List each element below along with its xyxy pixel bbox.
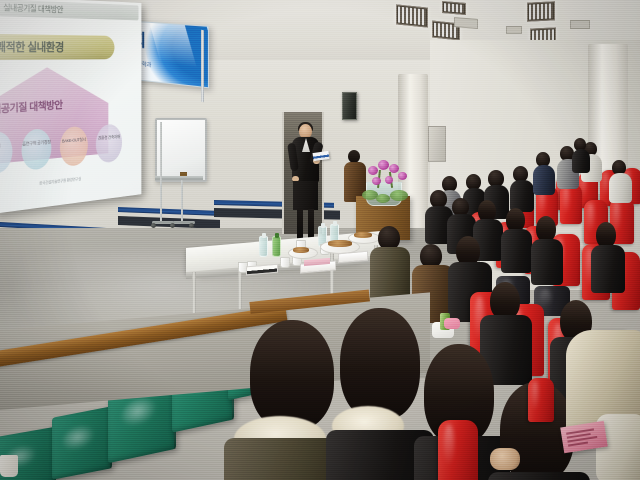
ceiling-vent <box>506 26 522 34</box>
food-item <box>328 240 352 247</box>
greenery <box>376 194 390 203</box>
whiteboard-caster <box>189 223 194 228</box>
slide-oval-row: 환기 흡연구역 공기청정 BAKE-OUT실시 친환경 건축자재 <box>0 123 133 177</box>
orchid-bloom <box>398 172 407 180</box>
slide-oval: BAKE-OUT실시 <box>60 126 88 167</box>
presenter-leg <box>297 209 303 241</box>
paper-cup <box>0 455 18 477</box>
attendee-torso <box>501 229 532 273</box>
attendee-torso <box>572 149 590 173</box>
slide-oval-label: 친환경 건축자재 <box>96 134 122 141</box>
slide-oval: 환기 <box>0 131 12 175</box>
projection-screen: 실내공기질 대책방안 쾌적한 실내환경 실내공기질 대책방안 환기 흡연구역 공… <box>0 0 141 214</box>
orchid-bloom <box>385 176 393 184</box>
slide-credit: 한국건설기술연구원 환경연구실 <box>39 176 81 186</box>
slide-oval: 친환경 건축자재 <box>96 124 122 164</box>
ceiling-light-icon <box>527 1 555 21</box>
auditorium-seat <box>438 420 478 480</box>
attendee-torso <box>533 165 555 195</box>
whiteboard-marker <box>180 172 187 176</box>
attendee-torso <box>609 173 632 203</box>
banner-pole <box>201 30 204 102</box>
whiteboard-leg <box>160 122 162 222</box>
attendee-head <box>250 320 334 430</box>
attendee-torso <box>591 245 625 293</box>
attendee-torso <box>488 472 590 480</box>
slide-oval-label: 흡연구역 공기청정 <box>22 140 52 148</box>
slide-title-pill: 쾌적한 실내환경 <box>0 34 114 60</box>
auditorium-seat <box>528 378 554 422</box>
slide-oval-label: BAKE-OUT실시 <box>60 137 88 145</box>
slide-title-text: 쾌적한 실내환경 <box>0 34 114 60</box>
food-item <box>293 247 309 253</box>
paper-cup <box>280 257 290 268</box>
whiteboard-caster <box>151 223 156 228</box>
slide-content: 실내공기질 대책방안 쾌적한 실내환경 실내공기질 대책방안 환기 흡연구역 공… <box>0 0 141 214</box>
whiteboard-tray <box>155 176 203 180</box>
ceiling-vent <box>570 20 590 29</box>
wall-speaker-icon <box>428 126 446 162</box>
auditorium-seat <box>560 184 582 224</box>
orchid-bloom <box>368 166 378 175</box>
slide-header-text: 실내공기질 대책방안 <box>0 0 138 20</box>
wall-speaker-icon <box>342 92 357 120</box>
greenery <box>390 190 408 201</box>
attendee-head <box>340 308 420 420</box>
ceiling-light-icon <box>442 1 466 15</box>
orchid-bloom <box>389 164 399 173</box>
ceiling-light-icon <box>396 4 428 27</box>
attendee-torso <box>370 247 410 301</box>
whiteboard-caster <box>170 223 175 228</box>
water-bottle <box>259 236 268 257</box>
ceiling-vent <box>454 17 478 29</box>
hand <box>490 448 520 470</box>
slide-oval-label: 환기 <box>0 142 12 150</box>
beverage-bottle <box>272 236 281 257</box>
orchid-bloom <box>378 160 389 170</box>
slide-header: 실내공기질 대책방안 <box>0 0 138 20</box>
photo-scene: 발표회 표회 국대학교 환경공학과 실내공기질 대책방안 쾌적한 실내환경 실내… <box>0 0 640 480</box>
attendee-torso <box>531 239 563 285</box>
whiteboard-leg <box>181 180 183 222</box>
foreground-bench-seat <box>52 406 112 480</box>
shopping-bag <box>444 318 460 329</box>
presenter-skirt <box>293 181 318 210</box>
slide-oval: 흡연구역 공기청정 <box>22 128 52 171</box>
orchid-bloom <box>372 177 381 185</box>
food-item <box>354 232 372 238</box>
